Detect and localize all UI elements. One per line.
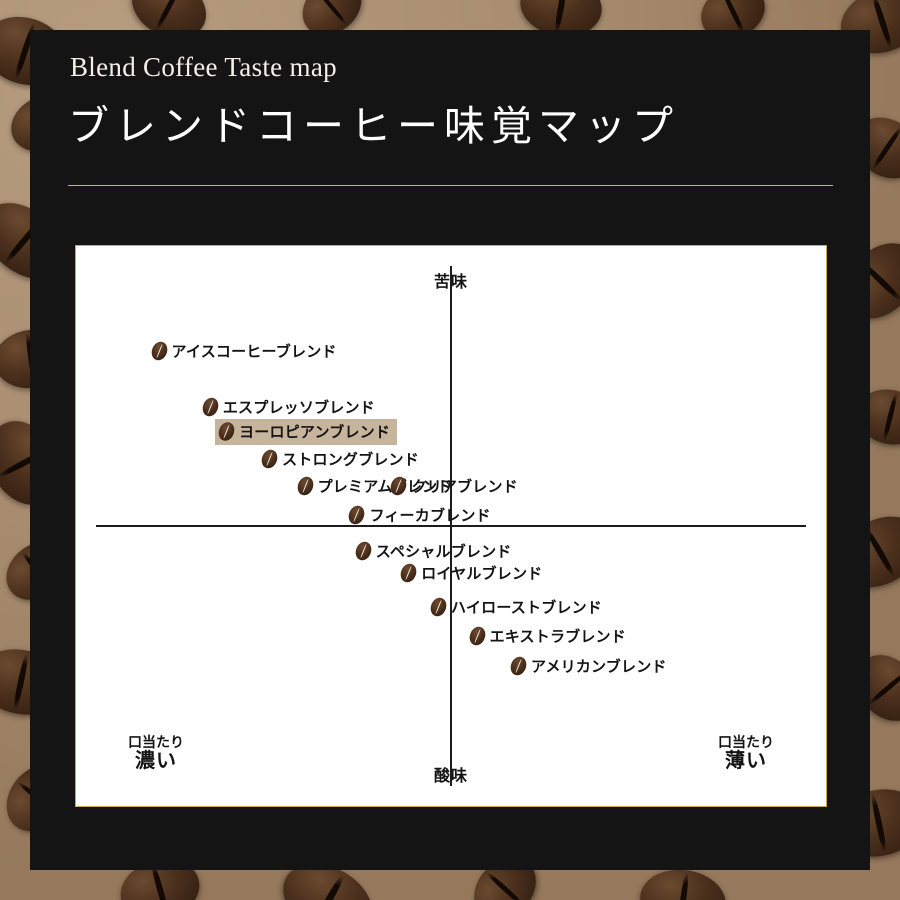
page-title-english: Blend Coffee Taste map bbox=[70, 52, 337, 83]
taste-map-chart: 苦味 酸味 口当たり 濃い 口当たり 薄い アイスコーヒーブレンドエスプレッソブ… bbox=[75, 245, 827, 807]
chart-point: フィーカブレンド bbox=[349, 504, 490, 525]
chart-horizontal-axis bbox=[96, 525, 806, 527]
chart-point-label: アメリカンブレンド bbox=[531, 655, 667, 676]
page-title-japanese: ブレンドコーヒー味覚マップ bbox=[68, 92, 679, 152]
coffee-bean-icon bbox=[467, 625, 488, 648]
coffee-bean-icon bbox=[346, 503, 367, 526]
content-panel: Blend Coffee Taste map ブレンドコーヒー味覚マップ 苦味 … bbox=[30, 30, 870, 870]
chart-point-label: フィーカブレンド bbox=[369, 504, 490, 525]
chart-point-label: クリアブレンド bbox=[411, 475, 517, 496]
chart-point-label: スペシャルブレンド bbox=[376, 540, 512, 561]
axis-label-right-big: 薄い bbox=[718, 750, 774, 773]
axis-label-left: 口当たり 濃い bbox=[128, 734, 184, 773]
chart-point-label: ヨーロピアンブレンド bbox=[239, 421, 390, 442]
coffee-bean-icon bbox=[398, 562, 419, 585]
chart-point: クリアブレンド bbox=[391, 475, 517, 496]
coffee-bean-icon bbox=[353, 539, 374, 562]
coffee-bean-icon bbox=[259, 447, 280, 470]
coffee-bean-icon bbox=[148, 339, 169, 362]
axis-label-left-small: 口当たり bbox=[128, 734, 184, 750]
chart-point: エスプレッソブレンド bbox=[203, 396, 375, 417]
axis-label-left-big: 濃い bbox=[128, 750, 184, 773]
coffee-bean-icon bbox=[216, 419, 237, 442]
chart-point-label: ロイヤルブレンド bbox=[421, 563, 542, 584]
axis-label-bottom: 酸味 bbox=[434, 762, 468, 786]
axis-label-right-small: 口当たり bbox=[718, 734, 774, 750]
chart-point: ヨーロピアンブレンド bbox=[215, 419, 397, 445]
title-divider bbox=[68, 185, 833, 186]
chart-point-label: アイスコーヒーブレンド bbox=[172, 340, 337, 361]
chart-point: エキストラブレンド bbox=[470, 626, 626, 647]
coffee-bean-icon bbox=[508, 654, 529, 677]
chart-point: アイスコーヒーブレンド bbox=[152, 340, 337, 361]
screenshot-root: Blend Coffee Taste map ブレンドコーヒー味覚マップ 苦味 … bbox=[0, 0, 900, 900]
axis-label-right: 口当たり 薄い bbox=[718, 734, 774, 773]
coffee-bean-icon bbox=[428, 595, 449, 618]
chart-point-label: エスプレッソブレンド bbox=[223, 396, 375, 417]
chart-point: スペシャルブレンド bbox=[356, 540, 512, 561]
chart-point-label: エキストラブレンド bbox=[490, 626, 626, 647]
chart-point: ストロングブレンド bbox=[262, 448, 419, 469]
axis-label-top: 苦味 bbox=[434, 268, 468, 292]
chart-point-label: ストロングブレンド bbox=[282, 448, 419, 469]
chart-point: アメリカンブレンド bbox=[511, 655, 667, 676]
chart-point-label: ハイローストブレンド bbox=[451, 597, 602, 618]
coffee-bean-icon bbox=[295, 474, 316, 497]
coffee-bean-icon bbox=[200, 395, 221, 418]
coffee-bean-icon bbox=[388, 474, 409, 497]
chart-point: ロイヤルブレンド bbox=[401, 563, 542, 584]
chart-point: ハイローストブレンド bbox=[431, 597, 602, 618]
